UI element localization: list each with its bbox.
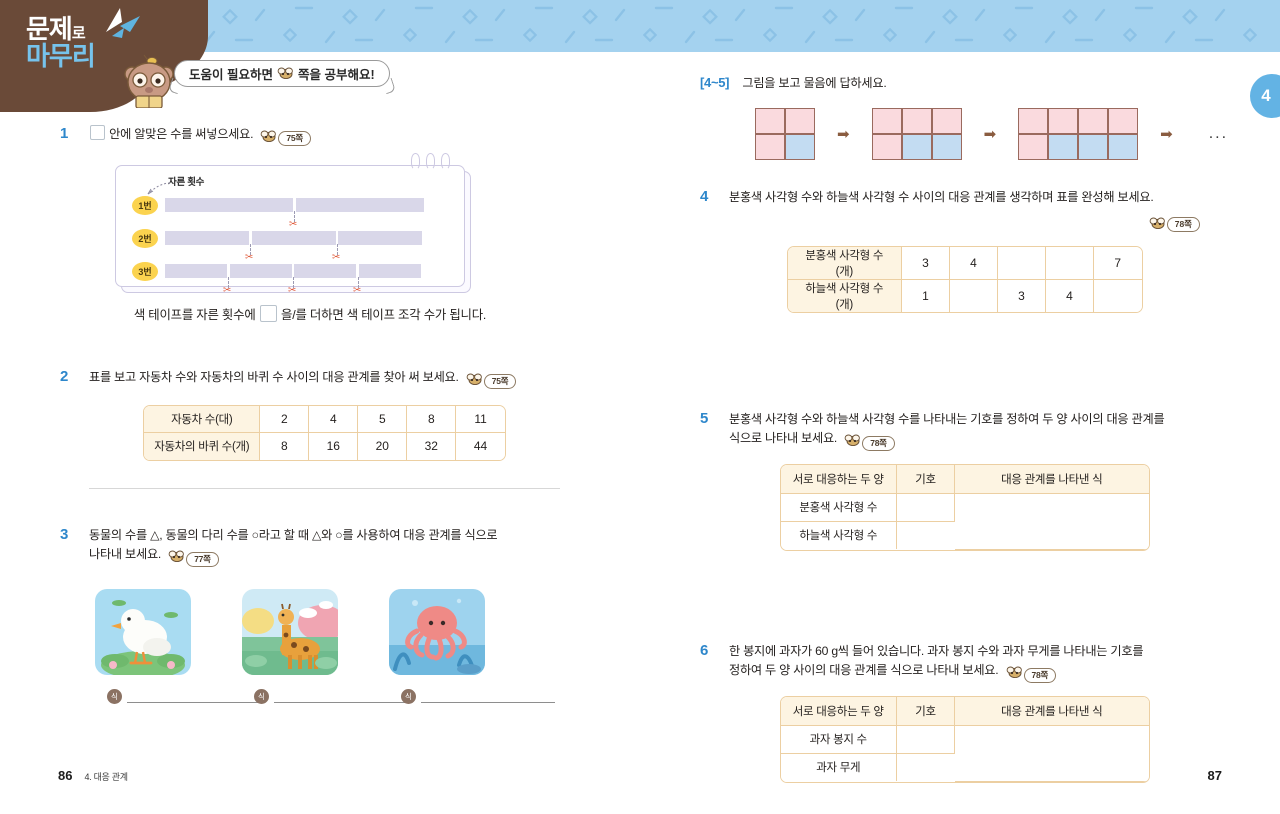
pink-square	[932, 108, 962, 134]
answer-blank-inline[interactable]	[260, 305, 277, 322]
table-row: 과자 봉지 수	[781, 725, 1149, 753]
table-cell[interactable]: 4	[950, 247, 998, 280]
column-header: 서로 대응하는 두 양	[781, 465, 897, 493]
page-reference-label: 78쪽	[862, 436, 895, 451]
tape-row-badge: 3번	[132, 262, 158, 281]
bubble-tick-right	[382, 78, 396, 94]
page-number-left: 86	[58, 768, 72, 783]
question-3-prompt: 동물의 수를 △, 동물의 다리 수를 ○라고 할 때 △와 ○를 사용하여 대…	[89, 526, 560, 570]
table-row: 자동차 수(대) 2 4 5 8 11	[144, 406, 505, 433]
question-6-number: 6	[700, 642, 722, 659]
question-group-header: [4~5] 그림을 보고 물음에 답하세요.	[700, 72, 1200, 94]
pink-square	[1018, 108, 1048, 134]
pink-square	[755, 108, 785, 134]
tape-card: 자른 횟수 1번 ✂	[115, 165, 465, 287]
question-4-number: 4	[700, 188, 722, 205]
question-2: 2 표를 보고 자동차 수와 자동차의 바퀴 수 사이의 대응 관계를 찾아 써…	[60, 368, 560, 466]
animal-image-row	[95, 589, 560, 675]
equation-answer-line[interactable]	[127, 702, 261, 703]
column-header: 서로 대응하는 두 양	[781, 697, 897, 725]
symbol-cell[interactable]	[897, 521, 955, 549]
question-1-prompt: 안에 알맞은 수를 써넣으세요. 75쪽	[89, 125, 560, 149]
pink-square	[1078, 108, 1108, 134]
page-reference-badge[interactable]: 78쪽	[844, 433, 895, 453]
expression-cell[interactable]	[955, 493, 1149, 549]
page-reference-badge[interactable]: 78쪽	[1006, 665, 1057, 685]
textbook-page-spread: 문제로 마무리 도움이 필요하면	[0, 0, 1280, 814]
question-6-text-line1: 한 봉지에 과자가 60 g씩 들어 있습니다. 과자 봉지 수와 과자 무게를…	[729, 644, 1143, 658]
left-page-column: 1 안에 알맞은 수를 써넣으세요.	[60, 125, 560, 689]
logo-line1: 문제	[26, 14, 72, 44]
question-1-conclusion: 색 테이프를 자른 횟수에 을/를 더하면 색 테이프 조각 수가 됩니다.	[60, 305, 560, 323]
pink-square	[1108, 108, 1138, 134]
page-reference-badge[interactable]: 75쪽	[260, 129, 311, 149]
table-cell[interactable]: 1	[902, 279, 950, 312]
table-cell[interactable]: 5	[358, 406, 407, 433]
question-5-prompt: 분홍색 사각형 수와 하늘색 사각형 수를 나타내는 기호를 정하여 두 양 사…	[729, 410, 1200, 454]
bee-icon	[1149, 216, 1166, 234]
pink-square	[755, 134, 785, 160]
arrow-right-icon: ➡	[1160, 125, 1173, 143]
tape-illustration: 자른 횟수 1번 ✂	[115, 165, 471, 293]
bee-icon	[260, 129, 277, 149]
table-cell[interactable]: 7	[1094, 247, 1142, 280]
question-5-table: 서로 대응하는 두 양 기호 대응 관계를 나타낸 식 분홍색 사각형 수 하늘…	[780, 464, 1150, 551]
question-5-number: 5	[700, 410, 722, 427]
row-label: 분홍색 사각형 수	[781, 493, 897, 521]
equation-badge: 식	[401, 689, 416, 704]
top-banner	[196, 0, 1280, 52]
question-3-text-line2: 나타내 보세요.	[89, 547, 161, 561]
question-4-table: 분홍색 사각형 수(개) 3 4 7 하늘색 사각형 수(개) 1	[787, 246, 1143, 313]
symbol-cell[interactable]	[897, 493, 955, 521]
table-cell[interactable]: 32	[407, 433, 456, 460]
scissors-icon: ✂	[288, 285, 296, 296]
row-label: 하늘색 사각형 수(개)	[788, 279, 902, 312]
bee-icon	[168, 549, 185, 569]
table-cell[interactable]: 11	[456, 406, 505, 433]
table-cell[interactable]	[1094, 279, 1142, 312]
page-reference-label: 75쪽	[484, 374, 517, 389]
pink-square	[1048, 108, 1078, 134]
question-group-4-5: [4~5] 그림을 보고 물음에 답하세요. ➡	[700, 72, 1200, 160]
question-group-text: 그림을 보고 물음에 답하세요.	[742, 76, 886, 90]
figure-1	[755, 108, 815, 160]
tape-row: 2번	[132, 229, 422, 248]
table-cell[interactable]	[1046, 247, 1094, 280]
table-cell[interactable]: 2	[260, 406, 309, 433]
spiral-rings-icon	[411, 153, 450, 170]
table-cell[interactable]: 8	[407, 406, 456, 433]
table-cell[interactable]: 8	[260, 433, 309, 460]
table-row: 자동차의 바퀴 수(개) 8 16 20 32 44	[144, 433, 505, 460]
bee-icon	[466, 372, 483, 392]
blue-square	[902, 134, 932, 160]
answer-blank-inline[interactable]	[90, 125, 105, 140]
question-4-text: 분홍색 사각형 수와 하늘색 사각형 수 사이의 대응 관계를 생각하며 표를 …	[729, 190, 1153, 204]
question-6-text-line2: 정하여 두 양 사이의 대응 관계를 식으로 나타내 보세요.	[729, 663, 998, 677]
pink-square	[1018, 134, 1048, 160]
question-5-text-line2: 식으로 나타내 보세요.	[729, 431, 837, 445]
pattern-ellipsis: ...	[1209, 125, 1228, 143]
octopus-illustration	[389, 589, 485, 675]
tape-row-badge: 1번	[132, 196, 158, 215]
column-header: 대응 관계를 나타낸 식	[955, 697, 1149, 725]
equation-badge: 식	[254, 689, 269, 704]
question-2-text: 표를 보고 자동차 수와 자동차의 바퀴 수 사이의 대응 관계를 찾아 써 보…	[89, 370, 459, 384]
question-range-label: [4~5]	[700, 75, 729, 90]
question-2-number: 2	[60, 368, 82, 385]
question-4: 4 분홍색 사각형 수와 하늘색 사각형 수 사이의 대응 관계를 생각하며 표…	[700, 188, 1200, 318]
page-reference-label: 77쪽	[186, 552, 219, 567]
tape-bar	[165, 231, 422, 245]
question-1-number: 1	[60, 125, 82, 142]
tape-row: 1번	[132, 196, 424, 215]
column-header: 기호	[897, 697, 955, 725]
question-1: 1 안에 알맞은 수를 써넣으세요.	[60, 125, 560, 323]
question-3: 3 동물의 수를 △, 동물의 다리 수를 ○라고 할 때 △와 ○를 사용하여…	[60, 526, 560, 690]
page-reference-label: 75쪽	[278, 131, 311, 146]
bee-icon	[1006, 665, 1023, 685]
blue-square	[1078, 134, 1108, 160]
pink-square	[872, 134, 902, 160]
question-2-prompt: 표를 보고 자동차 수와 자동차의 바퀴 수 사이의 대응 관계를 찾아 써 보…	[89, 368, 560, 392]
page-reference-label: 78쪽	[1167, 217, 1200, 232]
pink-square	[902, 108, 932, 134]
question-5-text-line1: 분홍색 사각형 수와 하늘색 사각형 수를 나타내는 기호를 정하여 두 양 사…	[729, 412, 1164, 426]
footer-left: 86 4. 대응 관계	[58, 768, 128, 783]
table-cell[interactable]	[950, 279, 998, 312]
expression-cell[interactable]	[955, 725, 1149, 781]
question-6: 6 한 봉지에 과자가 60 g씩 들어 있습니다. 과자 봉지 수와 과자 무…	[700, 642, 1200, 788]
logo-line2: 마무리	[26, 43, 95, 70]
row-label: 하늘색 사각형 수	[781, 521, 897, 549]
row-label: 분홍색 사각형 수(개)	[788, 247, 902, 280]
page-reference-label: 78쪽	[1024, 668, 1057, 683]
section-divider	[89, 488, 560, 489]
square-pattern-figures: ➡ ➡	[755, 108, 1200, 160]
question-2-table: 자동차 수(대) 2 4 5 8 11 자동차의 바퀴 수(개) 8 16	[143, 405, 506, 461]
row-label: 자동차의 바퀴 수(개)	[144, 433, 260, 460]
question-6-prompt: 한 봉지에 과자가 60 g씩 들어 있습니다. 과자 봉지 수와 과자 무게를…	[729, 642, 1200, 686]
tape-row-badge: 2번	[132, 229, 158, 248]
chapter-tab-number: 4	[1261, 86, 1270, 106]
bee-icon	[844, 433, 861, 453]
arrow-right-icon: ➡	[837, 125, 850, 143]
bee-icon	[277, 66, 294, 82]
table-header-row: 서로 대응하는 두 양 기호 대응 관계를 나타낸 식	[781, 465, 1149, 493]
section-logo: 문제로 마무리	[26, 16, 95, 71]
row-label: 과자 봉지 수	[781, 725, 897, 753]
question-6-table: 서로 대응하는 두 양 기호 대응 관계를 나타낸 식 과자 봉지 수 과자 무…	[780, 696, 1150, 783]
question-3-number: 3	[60, 526, 82, 543]
page-reference-badge[interactable]: 75쪽	[466, 372, 517, 392]
equation-answer-line[interactable]	[274, 702, 408, 703]
duck-illustration	[95, 589, 191, 675]
question-4-prompt: 분홍색 사각형 수와 하늘색 사각형 수 사이의 대응 관계를 생각하며 표를 …	[729, 188, 1200, 208]
spark-icon	[100, 6, 142, 45]
table-row: 하늘색 사각형 수(개) 1 3 4	[788, 279, 1142, 312]
column-header: 기호	[897, 465, 955, 493]
help-hint-bubble: 도움이 필요하면 쪽을 공부해요!	[174, 60, 390, 87]
table-header-row: 서로 대응하는 두 양 기호 대응 관계를 나타낸 식	[781, 697, 1149, 725]
page-reference-badge[interactable]: 77쪽	[168, 549, 219, 569]
figure-3	[1018, 108, 1138, 160]
table-cell[interactable]: 3	[998, 279, 1046, 312]
page-number-right: 87	[1208, 768, 1222, 783]
pink-square	[785, 108, 815, 134]
blue-square	[785, 134, 815, 160]
conclusion-part-a: 색 테이프를 자른 횟수에	[134, 308, 256, 322]
blue-square	[932, 134, 962, 160]
column-header: 대응 관계를 나타낸 식	[955, 465, 1149, 493]
table-cell[interactable]: 44	[456, 433, 505, 460]
blue-square	[1108, 134, 1138, 160]
arrow-right-icon: ➡	[984, 125, 997, 143]
scissors-icon: ✂	[353, 285, 361, 296]
row-label: 자동차 수(대)	[144, 406, 260, 433]
equation-badge: 식	[107, 689, 122, 704]
table-cell[interactable]: 4	[309, 406, 358, 433]
question-1-text: 안에 알맞은 수를 써넣으세요.	[109, 127, 253, 141]
table-cell[interactable]: 4	[1046, 279, 1094, 312]
question-3-text-line1: 동물의 수를 △, 동물의 다리 수를 ○라고 할 때 △와 ○를 사용하여 대…	[89, 528, 497, 542]
blue-square	[1048, 134, 1078, 160]
table-cell[interactable]: 20	[358, 433, 407, 460]
symbol-cell[interactable]	[897, 725, 955, 753]
right-page-column: [4~5] 그림을 보고 물음에 답하세요. ➡	[700, 72, 1200, 788]
table-row: 분홍색 사각형 수	[781, 493, 1149, 521]
table-cell[interactable]: 16	[309, 433, 358, 460]
logo-line1-suffix: 로	[72, 25, 85, 42]
equation-answer-line[interactable]	[421, 702, 555, 703]
conclusion-part-b: 을/를 더하면 색 테이프 조각 수가 됩니다.	[281, 308, 486, 322]
question-5: 5 분홍색 사각형 수와 하늘색 사각형 수를 나타내는 기호를 정하여 두 양…	[700, 410, 1200, 556]
help-hint-post: 쪽을 공부해요!	[298, 64, 375, 83]
scissors-icon: ✂	[223, 285, 231, 296]
symbol-cell[interactable]	[897, 753, 955, 781]
page-reference-badge[interactable]: 78쪽	[1149, 216, 1200, 234]
tape-row: 3번	[132, 262, 421, 281]
pink-square	[872, 108, 902, 134]
figure-2	[872, 108, 962, 160]
chapter-tab[interactable]: 4	[1250, 74, 1280, 118]
table-cell[interactable]: 3	[902, 247, 950, 280]
giraffe-illustration	[242, 589, 338, 675]
chapter-title: 4. 대응 관계	[84, 770, 127, 783]
table-cell[interactable]	[998, 247, 1046, 280]
row-label: 과자 무게	[781, 753, 897, 781]
table-row: 분홍색 사각형 수(개) 3 4 7	[788, 247, 1142, 280]
help-hint-pre: 도움이 필요하면	[189, 64, 273, 83]
